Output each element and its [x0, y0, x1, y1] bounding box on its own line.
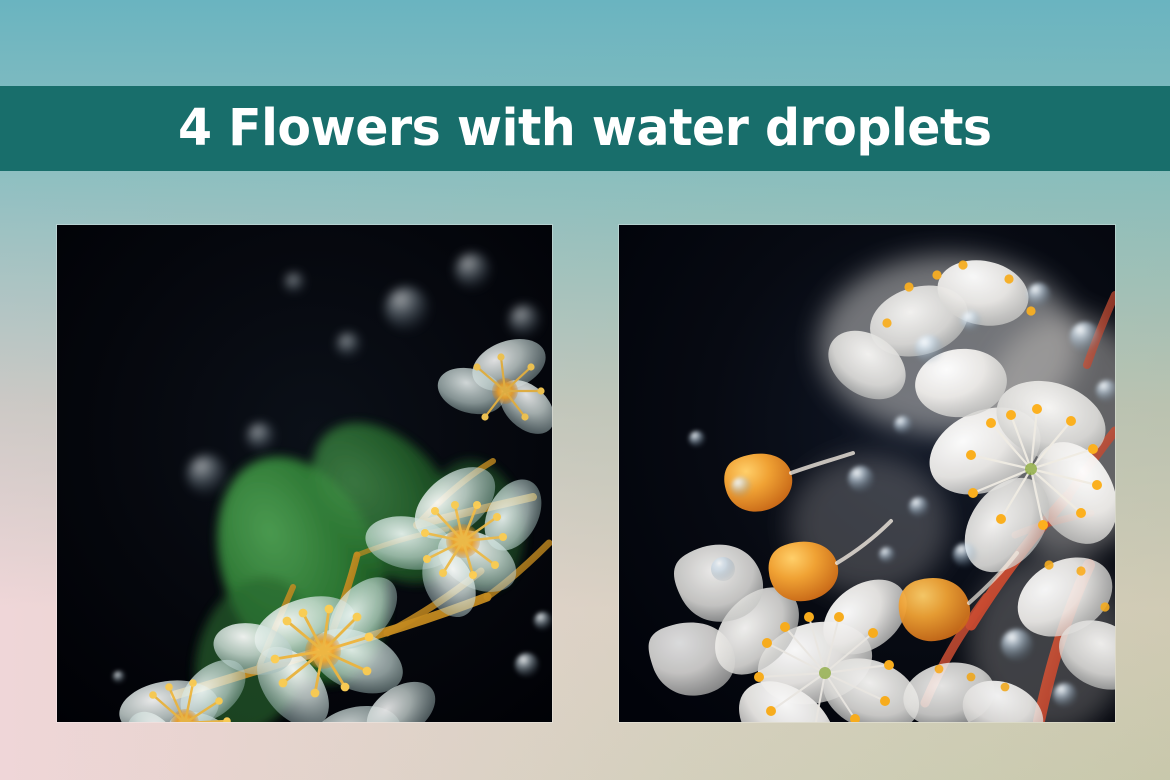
gallery-image-2[interactable]	[619, 225, 1115, 722]
title-banner: 4 Flowers with water droplets	[0, 86, 1170, 171]
glass-flowers-photo	[57, 225, 552, 722]
poster-canvas: 4 Flowers with water droplets	[0, 0, 1170, 780]
page-title: 4 Flowers with water droplets	[178, 103, 992, 154]
frosted-blossoms-photo	[619, 225, 1115, 722]
gallery-image-1[interactable]	[57, 225, 552, 722]
